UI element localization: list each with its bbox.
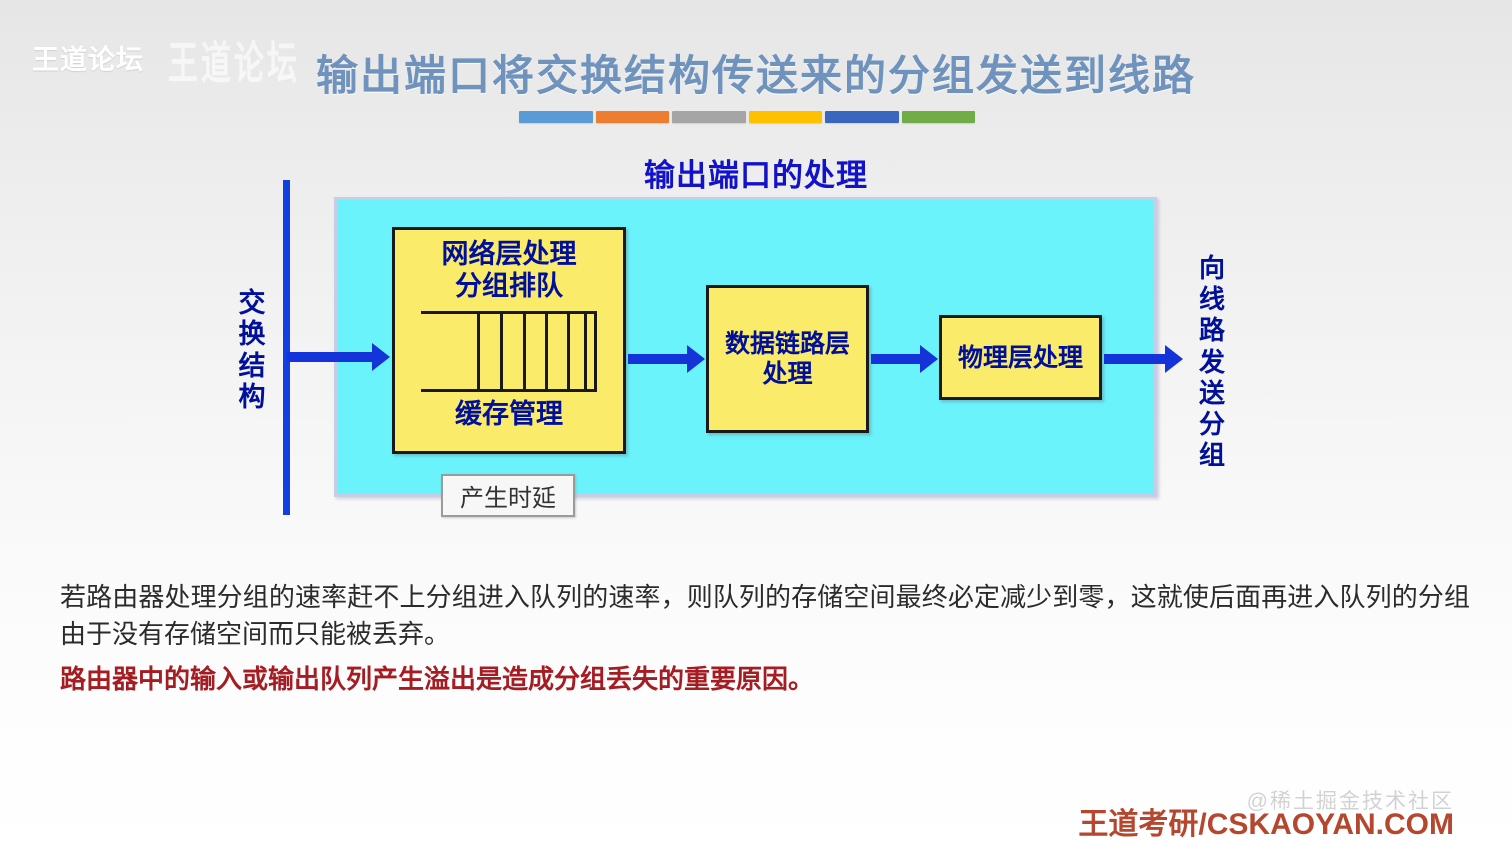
fabric-label-char-4: 构 (232, 382, 272, 413)
queue-divider-4 (545, 314, 548, 389)
network-layer-line-1: 网络层处理 (442, 239, 577, 271)
bar-dark-blue (825, 111, 899, 123)
network-layer-line-2: 分组排队 (455, 271, 563, 303)
bar-yellow (749, 111, 823, 123)
fabric-label-char-3: 结 (232, 351, 272, 382)
output-label-char-7: 组 (1192, 440, 1232, 471)
packet-queue-graphic (421, 311, 597, 392)
queue-divider-6 (584, 314, 587, 389)
presentation-slide: 王道论坛 王道论坛 输出端口将交换结构传送来的分组发送到线路 输出端口的处理 交… (0, 0, 1512, 851)
buffer-management-label: 缓存管理 (455, 400, 563, 430)
footer-brand: 王道考研/CSKAOYAN.COM (1078, 799, 1454, 843)
bar-light-blue (519, 111, 593, 123)
output-label-char-2: 线 (1192, 284, 1232, 315)
slide-title: 输出端口将交换结构传送来的分组发送到线路 (0, 42, 1512, 103)
switch-fabric-label: 交 换 结 构 (232, 288, 272, 413)
queue-divider-2 (500, 314, 503, 389)
queue-divider-1 (477, 314, 480, 389)
title-color-bars (519, 111, 975, 123)
diagram-header: 输出端口的处理 (0, 150, 1512, 195)
datalink-layer-line-1: 数据链路层 (725, 329, 850, 359)
output-label-char-6: 分 (1192, 409, 1232, 440)
output-label-char-5: 送 (1192, 378, 1232, 409)
output-label-char-4: 发 (1192, 347, 1232, 378)
network-layer-box: 网络层处理 分组排队 缓存管理 (392, 227, 626, 454)
queue-divider-5 (567, 314, 570, 389)
arrow-fabric-to-network (287, 352, 373, 362)
physical-layer-line-1: 物理层处理 (958, 343, 1083, 373)
body-emphasis-line: 路由器中的输入或输出队列产生溢出是造成分组丢失的重要原因。 (60, 662, 1470, 698)
body-paragraph: 若路由器处理分组的速率赶不上分组进入队列的速率，则队列的存储空间最终必定减少到零… (60, 580, 1470, 654)
physical-layer-box: 物理层处理 (939, 315, 1102, 400)
datalink-layer-line-2: 处理 (762, 359, 812, 389)
datalink-layer-box: 数据链路层 处理 (706, 285, 869, 433)
queue-divider-3 (523, 314, 526, 389)
arrow-datalink-to-physical (871, 354, 921, 364)
bar-orange (596, 111, 670, 123)
switch-fabric-boundary-line (283, 180, 290, 515)
delay-callout-box: 产生时延 (441, 474, 575, 517)
arrow-physical-to-line (1104, 354, 1166, 364)
bar-green (902, 111, 976, 123)
queue-right-edge (594, 314, 597, 389)
fabric-label-char-1: 交 (232, 288, 272, 319)
arrow-network-to-datalink (628, 354, 688, 364)
output-label-char-3: 路 (1192, 315, 1232, 346)
output-label-char-1: 向 (1192, 253, 1232, 284)
fabric-label-char-2: 换 (232, 319, 272, 350)
output-to-line-label: 向 线 路 发 送 分 组 (1192, 253, 1232, 471)
bar-gray (672, 111, 746, 123)
